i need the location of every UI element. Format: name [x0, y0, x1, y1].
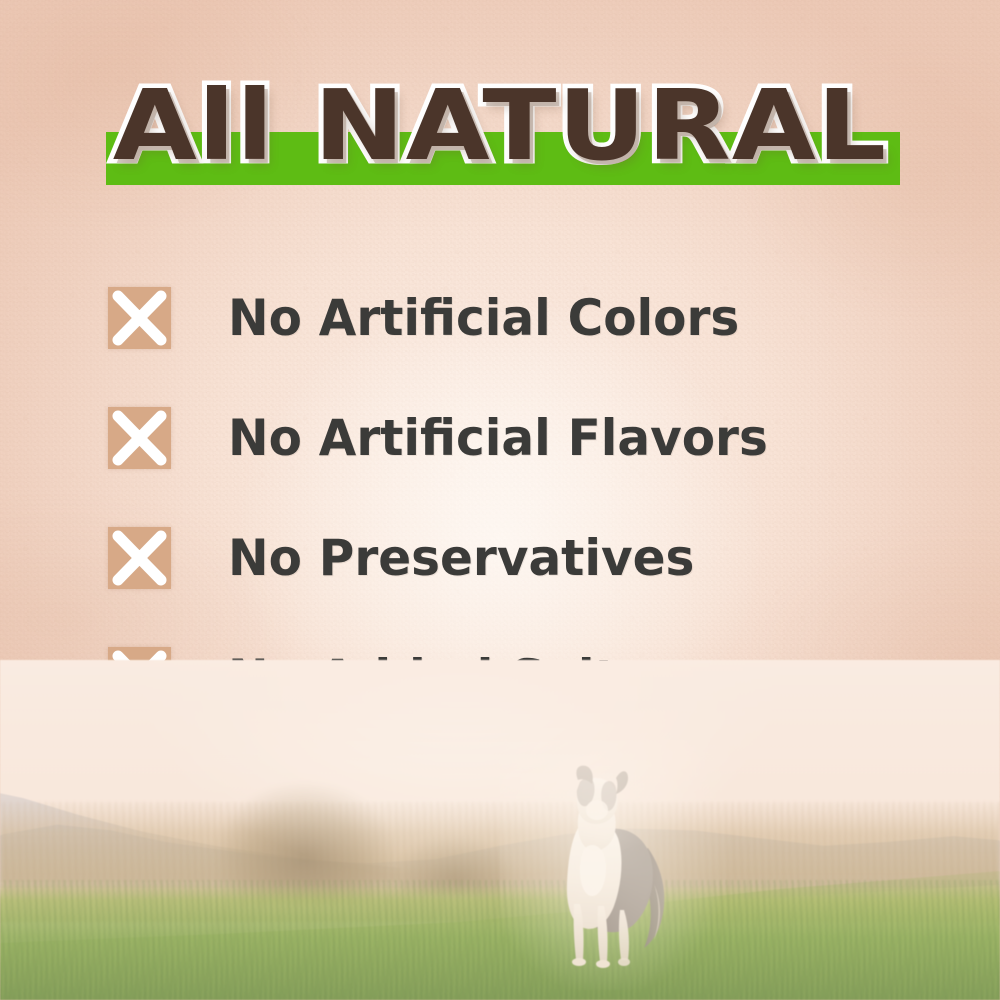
product-feature-poster: All NATURAL No Artificial Colors	[0, 0, 1000, 1000]
claim-item: No Artificial Colors	[108, 258, 928, 378]
claim-label: No Artificial Flavors	[228, 410, 768, 466]
claim-label: No Artificial Colors	[228, 290, 739, 346]
x-mark-icon	[108, 527, 171, 589]
grass-blade-texture	[0, 880, 1000, 1000]
lifestyle-photo	[0, 660, 1000, 1000]
claim-label: No Preservatives	[228, 530, 694, 586]
x-mark-icon	[108, 407, 171, 469]
claim-item: No Preservatives	[108, 498, 928, 618]
border-collie-dog	[536, 764, 688, 978]
headline-text: All NATURAL	[0, 74, 1000, 178]
headline-banner: All NATURAL	[0, 74, 1000, 194]
x-mark-icon	[108, 287, 171, 349]
claim-item: No Artificial Flavors	[108, 378, 928, 498]
